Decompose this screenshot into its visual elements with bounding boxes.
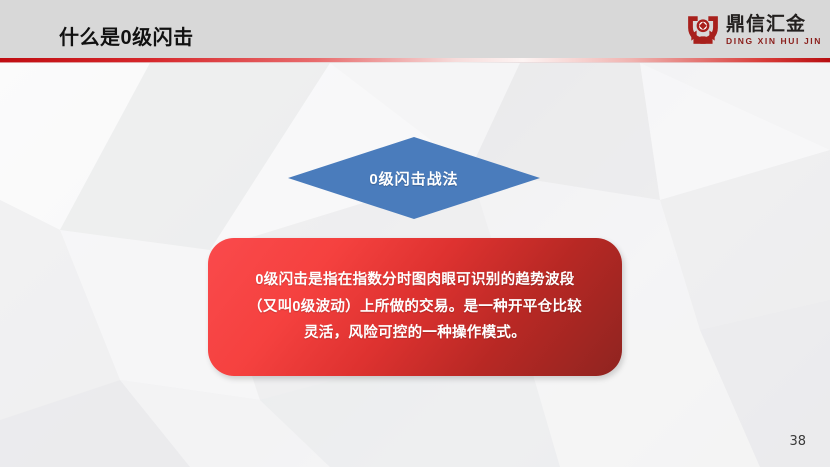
brand-logo: 鼎信汇金 DING XIN HUI JIN xyxy=(686,9,822,51)
definition-callout-text: 0级闪击是指在指数分时图肉眼可识别的趋势波段 （又叫0级波动）上所做的交易。是一… xyxy=(248,267,582,347)
definition-line-1: 0级闪击是指在指数分时图肉眼可识别的趋势波段 xyxy=(248,267,582,294)
brand-name-en: DING XIN HUI JIN xyxy=(726,37,822,46)
definition-line-2: （又叫0级波动）上所做的交易。是一种开平仓比较 xyxy=(248,294,582,321)
dingxinhuijin-emblem-icon xyxy=(686,13,720,47)
slide-header: 什么是0级闪击 鼎信汇金 DING XIN HUI JIN xyxy=(0,0,830,58)
brand-name-cn: 鼎信汇金 xyxy=(726,15,822,34)
page-number: 38 xyxy=(789,434,806,449)
diamond-callout: 0级闪击战法 xyxy=(288,137,540,219)
diamond-label: 0级闪击战法 xyxy=(288,137,540,219)
brand-logo-text: 鼎信汇金 DING XIN HUI JIN xyxy=(726,15,822,46)
header-divider-rule-shadow xyxy=(0,62,830,63)
background-polygon-pattern xyxy=(0,0,830,467)
page-title: 什么是0级闪击 xyxy=(59,21,194,50)
definition-line-3: 灵活，风险可控的一种操作模式。 xyxy=(248,320,582,347)
slide-canvas: 什么是0级闪击 鼎信汇金 DING XIN HUI JIN 0级闪击战法 xyxy=(0,0,830,467)
definition-callout-box: 0级闪击是指在指数分时图肉眼可识别的趋势波段 （又叫0级波动）上所做的交易。是一… xyxy=(208,238,622,376)
